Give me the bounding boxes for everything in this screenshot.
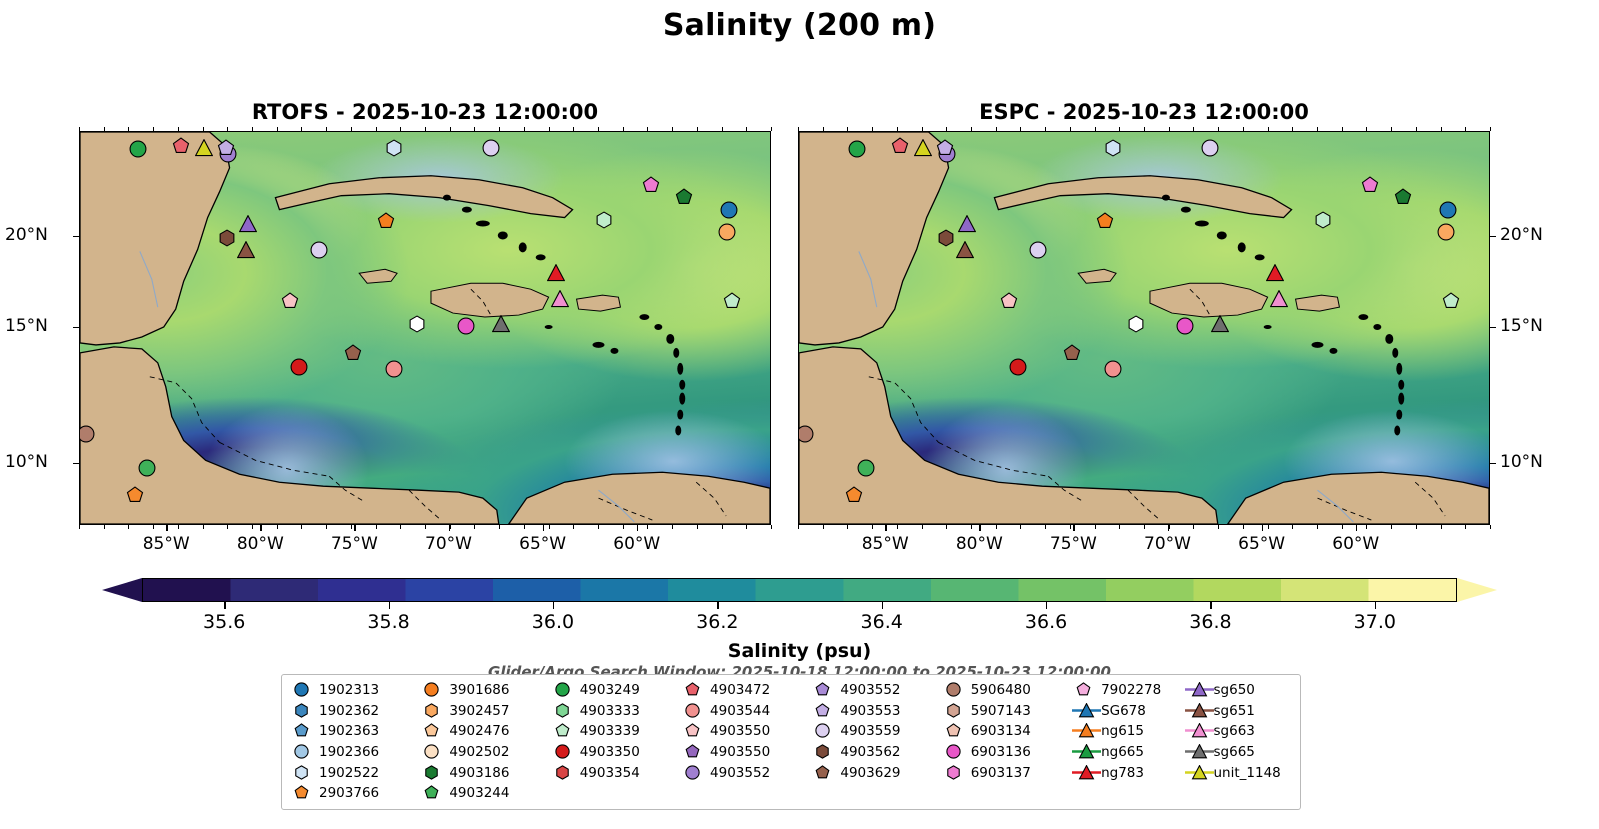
- legend-item[interactable]: 1902363: [290, 721, 420, 742]
- minor-tick: [252, 525, 253, 529]
- legend-item[interactable]: 4903629: [811, 762, 941, 783]
- map-marker[interactable]: [1104, 360, 1122, 378]
- legend-item[interactable]: 4902476: [420, 721, 550, 742]
- legend-column: 3901686390245749024764902502490318649032…: [420, 680, 550, 804]
- lon-tick-label: 85°W: [143, 534, 190, 554]
- page-title: Salinity (200 m): [0, 8, 1599, 43]
- pentagon-marker-icon: [811, 702, 837, 720]
- circle-marker-icon: [551, 743, 577, 761]
- map-marker[interactable]: [798, 425, 814, 443]
- map-marker[interactable]: [1270, 290, 1288, 308]
- minor-tick: [1193, 525, 1194, 529]
- colorbar-tick-label: 36.2: [696, 611, 738, 633]
- map-marker[interactable]: [1211, 315, 1229, 333]
- minor-tick: [897, 127, 898, 131]
- minor-tick: [996, 525, 997, 529]
- legend-label: sg651: [1211, 703, 1255, 719]
- triangle-line-marker-icon: [1185, 722, 1211, 740]
- map-marker[interactable]: [1439, 201, 1457, 219]
- map-marker[interactable]: [1127, 315, 1145, 333]
- legend-item[interactable]: 4903350: [551, 742, 681, 763]
- colorbar-extend-low: [102, 578, 142, 602]
- map-marker[interactable]: [290, 358, 308, 376]
- lat-tick-label: 15°N: [5, 316, 48, 336]
- lat-tick-label: 20°N: [1500, 225, 1543, 245]
- map-marker[interactable]: [595, 211, 613, 229]
- map-marker[interactable]: [385, 139, 403, 157]
- minor-tick: [1218, 525, 1219, 529]
- legend-item[interactable]: 4903552: [681, 762, 811, 783]
- minor-tick: [623, 127, 624, 131]
- minor-tick: [326, 525, 327, 529]
- map-marker[interactable]: [551, 290, 569, 308]
- circle-marker-icon: [420, 743, 446, 761]
- legend-label: ng615: [1098, 723, 1144, 739]
- minor-tick: [79, 525, 80, 529]
- legend-item[interactable]: ng665: [1072, 742, 1184, 763]
- legend-box[interactable]: 1902313190236219023631902366190252229037…: [281, 674, 1301, 810]
- minor-tick: [1243, 525, 1244, 529]
- map-marker[interactable]: [310, 241, 328, 259]
- map-marker[interactable]: [675, 188, 693, 206]
- minor-tick: [1416, 525, 1417, 529]
- map-panel-rtofs[interactable]: [79, 131, 771, 525]
- legend-item[interactable]: ng783: [1072, 762, 1184, 783]
- minor-tick: [351, 525, 352, 529]
- lon-tick: [543, 525, 545, 531]
- map-marker[interactable]: [936, 139, 954, 157]
- legend-item[interactable]: 4903244: [420, 783, 550, 804]
- legend-column: 49034724903544490355049035504903552: [681, 680, 811, 804]
- map-marker[interactable]: [172, 137, 190, 155]
- minor-tick: [1490, 127, 1491, 131]
- legend-item[interactable]: 1902522: [290, 762, 420, 783]
- triangle-line-marker-icon: [1185, 681, 1211, 699]
- pentagon-marker-icon: [420, 722, 446, 740]
- map-marker[interactable]: [1266, 264, 1284, 282]
- minor-tick: [400, 525, 401, 529]
- legend-item[interactable]: sg665: [1185, 742, 1294, 763]
- minor-tick: [847, 127, 848, 131]
- legend-item[interactable]: 2903766: [290, 783, 420, 804]
- map-marker[interactable]: [1063, 344, 1081, 362]
- legend-label: unit_1148: [1211, 765, 1281, 781]
- minor-tick: [104, 127, 105, 131]
- pentagon-marker-icon: [942, 722, 968, 740]
- legend-column: 49035524903553490355949035624903629: [811, 680, 941, 804]
- legend-item[interactable]: unit_1148: [1185, 762, 1294, 783]
- legend-item[interactable]: 4903186: [420, 762, 550, 783]
- legend-item[interactable]: 4903550: [681, 721, 811, 742]
- legend-label: ng665: [1098, 744, 1144, 760]
- lat-tick: [1490, 236, 1496, 238]
- pentagon-marker-icon: [290, 722, 316, 740]
- minor-tick: [1119, 127, 1120, 131]
- map-marker[interactable]: [1361, 176, 1379, 194]
- minor-tick: [971, 127, 972, 131]
- lon-tick-label: 65°W: [519, 534, 566, 554]
- map-marker[interactable]: [958, 215, 976, 233]
- legend-label: 4903553: [837, 703, 900, 719]
- lon-tick-label: 75°W: [1050, 534, 1097, 554]
- minor-tick: [425, 127, 426, 131]
- hexagon-marker-icon: [942, 702, 968, 720]
- hexagon-marker-icon: [290, 702, 316, 720]
- minor-tick: [79, 127, 80, 131]
- hexagon-marker-icon: [551, 764, 577, 782]
- minor-tick: [326, 127, 327, 131]
- pentagon-marker-icon: [290, 784, 316, 802]
- pentagon-marker-icon: [681, 743, 707, 761]
- map-marker[interactable]: [718, 223, 736, 241]
- minor-tick: [697, 525, 698, 529]
- legend-item[interactable]: 4903333: [551, 701, 681, 722]
- legend-item[interactable]: 4902502: [420, 742, 550, 763]
- legend-label: 4903629: [837, 765, 900, 781]
- lon-tick-label: 65°W: [1238, 534, 1285, 554]
- lat-tick: [73, 236, 79, 238]
- map-marker[interactable]: [956, 241, 974, 259]
- minor-tick: [1169, 525, 1170, 529]
- colorbar-tick: [717, 602, 718, 609]
- minor-tick: [203, 525, 204, 529]
- lon-tick: [1073, 525, 1075, 531]
- minor-tick: [798, 525, 799, 529]
- minor-tick: [203, 127, 204, 131]
- minor-tick: [524, 127, 525, 131]
- circle-marker-icon: [681, 764, 707, 782]
- legend-label: 4903354: [577, 765, 640, 781]
- map-marker[interactable]: [1201, 139, 1219, 157]
- map-marker[interactable]: [1000, 292, 1018, 310]
- legend-item[interactable]: 4903553: [811, 701, 941, 722]
- hexagon-marker-icon: [290, 764, 316, 782]
- minor-tick: [1045, 525, 1046, 529]
- map-marker[interactable]: [344, 344, 362, 362]
- legend-item[interactable]: 4903562: [811, 742, 941, 763]
- legend-item[interactable]: sg663: [1185, 721, 1294, 742]
- map-marker[interactable]: [457, 317, 475, 335]
- legend-label: 1902363: [316, 723, 379, 739]
- legend-item[interactable]: 4903354: [551, 762, 681, 783]
- hexagon-marker-icon: [551, 702, 577, 720]
- minor-tick: [277, 525, 278, 529]
- map-marker[interactable]: [492, 315, 510, 333]
- minor-tick: [277, 127, 278, 131]
- circle-marker-icon: [420, 681, 446, 699]
- colorbar-tick: [882, 602, 883, 609]
- colorbar-tick: [224, 602, 225, 609]
- lon-tick-label: 70°W: [1144, 534, 1191, 554]
- legend-label: 4903552: [707, 765, 770, 781]
- legend-column: 49032494903333490333949033504903354: [551, 680, 681, 804]
- legend-item[interactable]: 6903134: [942, 721, 1072, 742]
- triangle-line-marker-icon: [1072, 722, 1098, 740]
- minor-tick: [549, 127, 550, 131]
- map-marker[interactable]: [1442, 292, 1460, 310]
- minor-tick: [1243, 127, 1244, 131]
- lat-tick-label: 10°N: [1500, 452, 1543, 472]
- map-marker[interactable]: [138, 459, 156, 477]
- minor-tick: [1218, 127, 1219, 131]
- colorbar-extend-high: [1457, 578, 1497, 602]
- legend-label: sg663: [1211, 723, 1255, 739]
- panel-title-rtofs: RTOFS - 2025-10-23 12:00:00: [79, 100, 771, 124]
- colorbar-tick-label: 36.4: [861, 611, 903, 633]
- pentagon-marker-icon: [1072, 681, 1098, 699]
- minor-tick: [1268, 525, 1269, 529]
- colorbar[interactable]: 35.635.836.036.236.436.636.837.0 Salinit…: [102, 578, 1497, 602]
- minor-tick: [104, 525, 105, 529]
- map-marker[interactable]: [482, 139, 500, 157]
- legend-label: 4903544: [707, 703, 770, 719]
- legend-item[interactable]: SG678: [1072, 701, 1184, 722]
- lon-tick-label: 80°W: [237, 534, 284, 554]
- legend-label: 4903186: [446, 765, 509, 781]
- legend-label: 4903550: [707, 723, 770, 739]
- map-marker[interactable]: [845, 486, 863, 504]
- legend-column: 7902278SG678ng615ng665ng783: [1072, 680, 1184, 804]
- legend-label: 4903244: [446, 785, 509, 801]
- legend-label: sg650: [1211, 682, 1255, 698]
- minor-tick: [872, 525, 873, 529]
- map-marker[interactable]: [281, 292, 299, 310]
- hexagon-marker-icon: [811, 743, 837, 761]
- legend-item[interactable]: 1902313: [290, 680, 420, 701]
- map-marker[interactable]: [1437, 223, 1455, 241]
- minor-tick: [872, 127, 873, 131]
- minor-tick: [746, 127, 747, 131]
- minor-tick: [1416, 127, 1417, 131]
- minor-tick: [474, 525, 475, 529]
- panel-title-espc: ESPC - 2025-10-23 12:00:00: [798, 100, 1490, 124]
- map-marker[interactable]: [126, 486, 144, 504]
- circle-marker-icon: [811, 722, 837, 740]
- minor-tick: [1169, 127, 1170, 131]
- minor-tick: [128, 525, 129, 529]
- map-marker[interactable]: [408, 315, 426, 333]
- legend-item[interactable]: ng615: [1072, 721, 1184, 742]
- lon-tick: [1262, 525, 1264, 531]
- minor-tick: [524, 525, 525, 529]
- colorbar-tick: [1375, 602, 1376, 609]
- map-marker[interactable]: [385, 360, 403, 378]
- pentagon-marker-icon: [681, 681, 707, 699]
- colorbar-tick-label: 36.8: [1189, 611, 1231, 633]
- pentagon-marker-icon: [681, 722, 707, 740]
- minor-tick: [746, 525, 747, 529]
- map-marker[interactable]: [937, 229, 955, 247]
- map-marker[interactable]: [79, 425, 95, 443]
- legend-column: 59064805907143690313469031366903137: [942, 680, 1072, 804]
- lon-tick: [260, 525, 262, 531]
- minor-tick: [647, 127, 648, 131]
- circle-marker-icon: [942, 743, 968, 761]
- minor-tick: [1095, 525, 1096, 529]
- minor-tick: [1095, 127, 1096, 131]
- lon-tick-label: 60°W: [1332, 534, 1379, 554]
- legend-label: 4903339: [577, 723, 640, 739]
- map-marker[interactable]: [1104, 139, 1122, 157]
- minor-tick: [1292, 127, 1293, 131]
- legend-item[interactable]: 4903472: [681, 680, 811, 701]
- map-marker[interactable]: [218, 229, 236, 247]
- legend-label: 5906480: [968, 682, 1031, 698]
- legend-item[interactable]: 4903552: [811, 680, 941, 701]
- minor-tick: [1490, 525, 1491, 529]
- triangle-line-marker-icon: [1072, 764, 1098, 782]
- map-marker[interactable]: [848, 140, 866, 158]
- map-marker[interactable]: [1029, 241, 1047, 259]
- minor-tick: [1391, 127, 1392, 131]
- map-marker[interactable]: [1096, 212, 1114, 230]
- legend-item[interactable]: sg650: [1185, 680, 1294, 701]
- minor-tick: [376, 127, 377, 131]
- legend-item[interactable]: 6903137: [942, 762, 1072, 783]
- legend-item[interactable]: 5906480: [942, 680, 1072, 701]
- minor-tick: [474, 127, 475, 131]
- minor-tick: [1144, 127, 1145, 131]
- map-panel-espc[interactable]: [798, 131, 1490, 525]
- legend-label: 4903552: [837, 682, 900, 698]
- lat-tick: [73, 463, 79, 465]
- map-marker[interactable]: [1176, 317, 1194, 335]
- map-marker[interactable]: [1314, 211, 1332, 229]
- legend-item[interactable]: 4903559: [811, 721, 941, 742]
- triangle-line-marker-icon: [1072, 743, 1098, 761]
- minor-tick: [153, 525, 154, 529]
- map-marker[interactable]: [891, 137, 909, 155]
- map-marker[interactable]: [195, 139, 213, 157]
- minor-tick: [499, 525, 500, 529]
- lat-tick-label: 15°N: [1500, 316, 1543, 336]
- minor-tick: [128, 127, 129, 131]
- colorbar-tick-label: 36.0: [532, 611, 574, 633]
- legend-label: 6903134: [968, 723, 1031, 739]
- minor-tick: [351, 127, 352, 131]
- minor-tick: [922, 525, 923, 529]
- colorbar-tick: [553, 602, 554, 609]
- minor-tick: [647, 525, 648, 529]
- lon-tick: [885, 525, 887, 531]
- minor-tick: [1391, 525, 1392, 529]
- map-marker[interactable]: [217, 139, 235, 157]
- minor-tick: [1268, 127, 1269, 131]
- legend-item[interactable]: 1902366: [290, 742, 420, 763]
- map-marker[interactable]: [723, 292, 741, 310]
- colorbar-tick-label: 35.8: [367, 611, 409, 633]
- minor-tick: [499, 127, 500, 131]
- hexagon-marker-icon: [420, 764, 446, 782]
- triangle-line-marker-icon: [1185, 764, 1211, 782]
- minor-tick: [1342, 127, 1343, 131]
- legend-item[interactable]: 5907143: [942, 701, 1072, 722]
- minor-tick: [178, 525, 179, 529]
- legend-label: 5907143: [968, 703, 1031, 719]
- minor-tick: [227, 127, 228, 131]
- minor-tick: [573, 127, 574, 131]
- minor-tick: [425, 525, 426, 529]
- minor-tick: [672, 525, 673, 529]
- minor-tick: [823, 127, 824, 131]
- map-marker[interactable]: [377, 212, 395, 230]
- circle-marker-icon: [551, 681, 577, 699]
- minor-tick: [1317, 127, 1318, 131]
- minor-tick: [722, 127, 723, 131]
- legend-label: SG678: [1098, 703, 1146, 719]
- map-marker[interactable]: [857, 459, 875, 477]
- minor-tick: [798, 127, 799, 131]
- legend-item[interactable]: 4903249: [551, 680, 681, 701]
- map-marker[interactable]: [239, 215, 257, 233]
- minor-tick: [1045, 127, 1046, 131]
- colorbar-tick-label: 35.6: [203, 611, 245, 633]
- minor-tick: [252, 127, 253, 131]
- legend-item[interactable]: 7902278: [1072, 680, 1184, 701]
- map-marker[interactable]: [547, 264, 565, 282]
- map-marker[interactable]: [129, 140, 147, 158]
- triangle-line-marker-icon: [1185, 743, 1211, 761]
- hexagon-marker-icon: [420, 702, 446, 720]
- minor-tick: [1465, 525, 1466, 529]
- legend-item[interactable]: 4903339: [551, 721, 681, 742]
- minor-tick: [1144, 525, 1145, 529]
- minor-tick: [1366, 127, 1367, 131]
- minor-tick: [400, 127, 401, 131]
- lon-tick: [637, 525, 639, 531]
- lon-tick-label: 60°W: [613, 534, 660, 554]
- pentagon-marker-icon: [811, 764, 837, 782]
- legend-label: 4902502: [446, 744, 509, 760]
- lon-tick-label: 70°W: [425, 534, 472, 554]
- legend-label: 4903333: [577, 703, 640, 719]
- minor-tick: [722, 525, 723, 529]
- legend-item[interactable]: 3901686: [420, 680, 550, 701]
- minor-tick: [922, 127, 923, 131]
- lat-tick: [1490, 327, 1496, 329]
- legend-item[interactable]: 4903544: [681, 701, 811, 722]
- pentagon-marker-icon: [811, 681, 837, 699]
- map-marker[interactable]: [720, 201, 738, 219]
- map-marker[interactable]: [237, 241, 255, 259]
- minor-tick: [598, 525, 599, 529]
- minor-tick: [573, 525, 574, 529]
- legend-item[interactable]: 1902362: [290, 701, 420, 722]
- minor-tick: [1070, 525, 1071, 529]
- minor-tick: [672, 127, 673, 131]
- lon-tick: [166, 525, 168, 531]
- map-marker[interactable]: [1009, 358, 1027, 376]
- colorbar-tick-label: 36.6: [1025, 611, 1067, 633]
- minor-tick: [1193, 127, 1194, 131]
- minor-tick: [996, 127, 997, 131]
- minor-tick: [1342, 525, 1343, 529]
- legend-item[interactable]: sg651: [1185, 701, 1294, 722]
- legend-label: 1902362: [316, 703, 379, 719]
- map-marker[interactable]: [642, 176, 660, 194]
- minor-tick: [178, 127, 179, 131]
- lon-tick-label: 85°W: [862, 534, 909, 554]
- legend-item[interactable]: 6903136: [942, 742, 1072, 763]
- map-marker[interactable]: [914, 139, 932, 157]
- minor-tick: [1441, 525, 1442, 529]
- minor-tick: [1119, 525, 1120, 529]
- map-marker[interactable]: [1394, 188, 1412, 206]
- legend-label: 6903137: [968, 765, 1031, 781]
- minor-tick: [697, 127, 698, 131]
- legend-item[interactable]: 3902457: [420, 701, 550, 722]
- legend-item[interactable]: 4903550: [681, 742, 811, 763]
